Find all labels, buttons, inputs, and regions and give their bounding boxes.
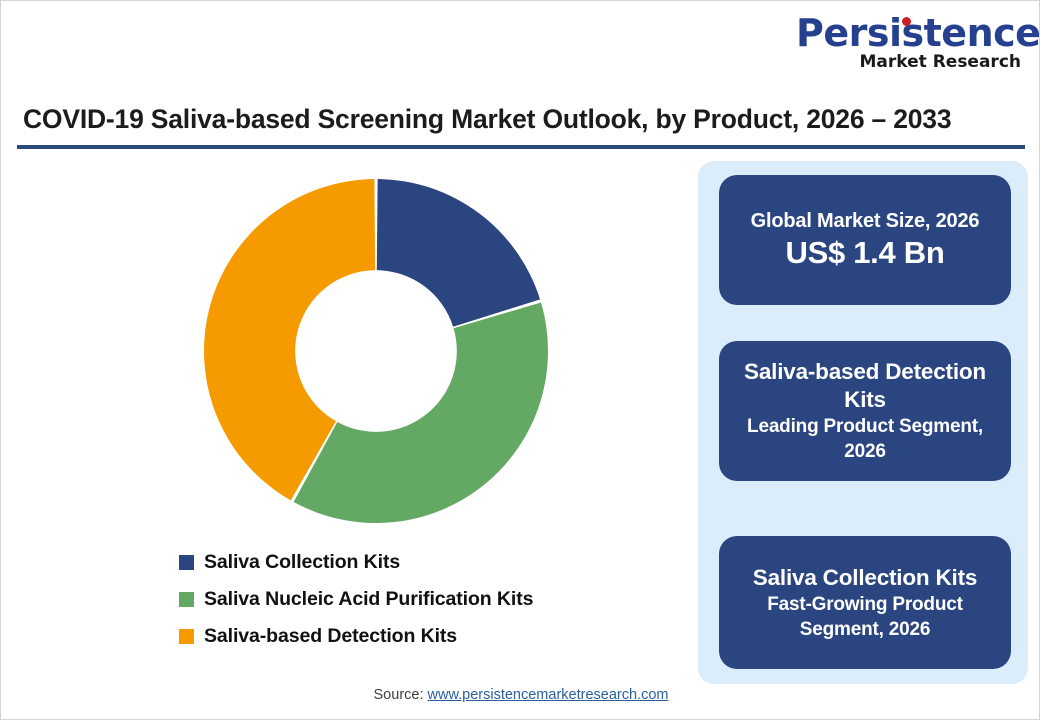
legend-item-saliva-nucleic-acid-purification-kits[interactable]: Saliva Nucleic Acid Purification Kits: [179, 581, 679, 618]
stat-card-value: US$ 1.4 Bn: [786, 234, 945, 272]
source-line: Source: www.persistencemarketresearch.co…: [1, 687, 1040, 703]
stat-card-value: Saliva Collection Kits: [753, 564, 977, 592]
stat-card-value: Saliva-based Detection Kits: [733, 358, 997, 414]
stat-card-label: Global Market Size, 2026: [751, 208, 980, 234]
legend-label: Saliva Nucleic Acid Purification Kits: [204, 588, 533, 611]
legend-swatch-navy: [179, 555, 194, 570]
legend-label: Saliva Collection Kits: [204, 551, 400, 574]
chart-legend: Saliva Collection Kits Saliva Nucleic Ac…: [179, 544, 679, 655]
donut-slices: [204, 179, 548, 523]
donut-chart: [1, 156, 691, 556]
infographic-page: Persistence Market Research COVID-19 Sal…: [0, 0, 1040, 720]
page-title: COVID-19 Saliva-based Screening Market O…: [23, 104, 1023, 135]
donut-slice[interactable]: [377, 179, 540, 327]
legend-swatch-green: [179, 592, 194, 607]
stat-card-fast-growing-segment: Saliva Collection Kits Fast-Growing Prod…: [719, 536, 1011, 669]
legend-item-saliva-collection-kits[interactable]: Saliva Collection Kits: [179, 544, 679, 581]
legend-label: Saliva-based Detection Kits: [204, 625, 457, 648]
source-prefix: Source:: [374, 687, 428, 703]
source-url-link[interactable]: www.persistencemarketresearch.com: [428, 687, 669, 703]
brand-logo: Persistence Market Research: [796, 13, 1021, 75]
brand-tagline: Market Research: [796, 53, 1021, 72]
legend-swatch-orange: [179, 629, 194, 644]
stat-card-label: Leading Product Segment, 2026: [733, 414, 997, 464]
donut-slice[interactable]: [294, 303, 548, 523]
stat-card-label: Fast-Growing Product Segment, 2026: [733, 592, 997, 642]
logo-dot-icon: [902, 17, 911, 26]
stat-card-leading-segment: Saliva-based Detection Kits Leading Prod…: [719, 341, 1011, 481]
highlights-panel: Global Market Size, 2026 US$ 1.4 Bn Sali…: [698, 161, 1028, 684]
stat-card-market-size: Global Market Size, 2026 US$ 1.4 Bn: [719, 175, 1011, 305]
legend-item-saliva-based-detection-kits[interactable]: Saliva-based Detection Kits: [179, 618, 679, 655]
title-divider: [17, 145, 1025, 149]
donut-chart-svg: [191, 166, 561, 536]
